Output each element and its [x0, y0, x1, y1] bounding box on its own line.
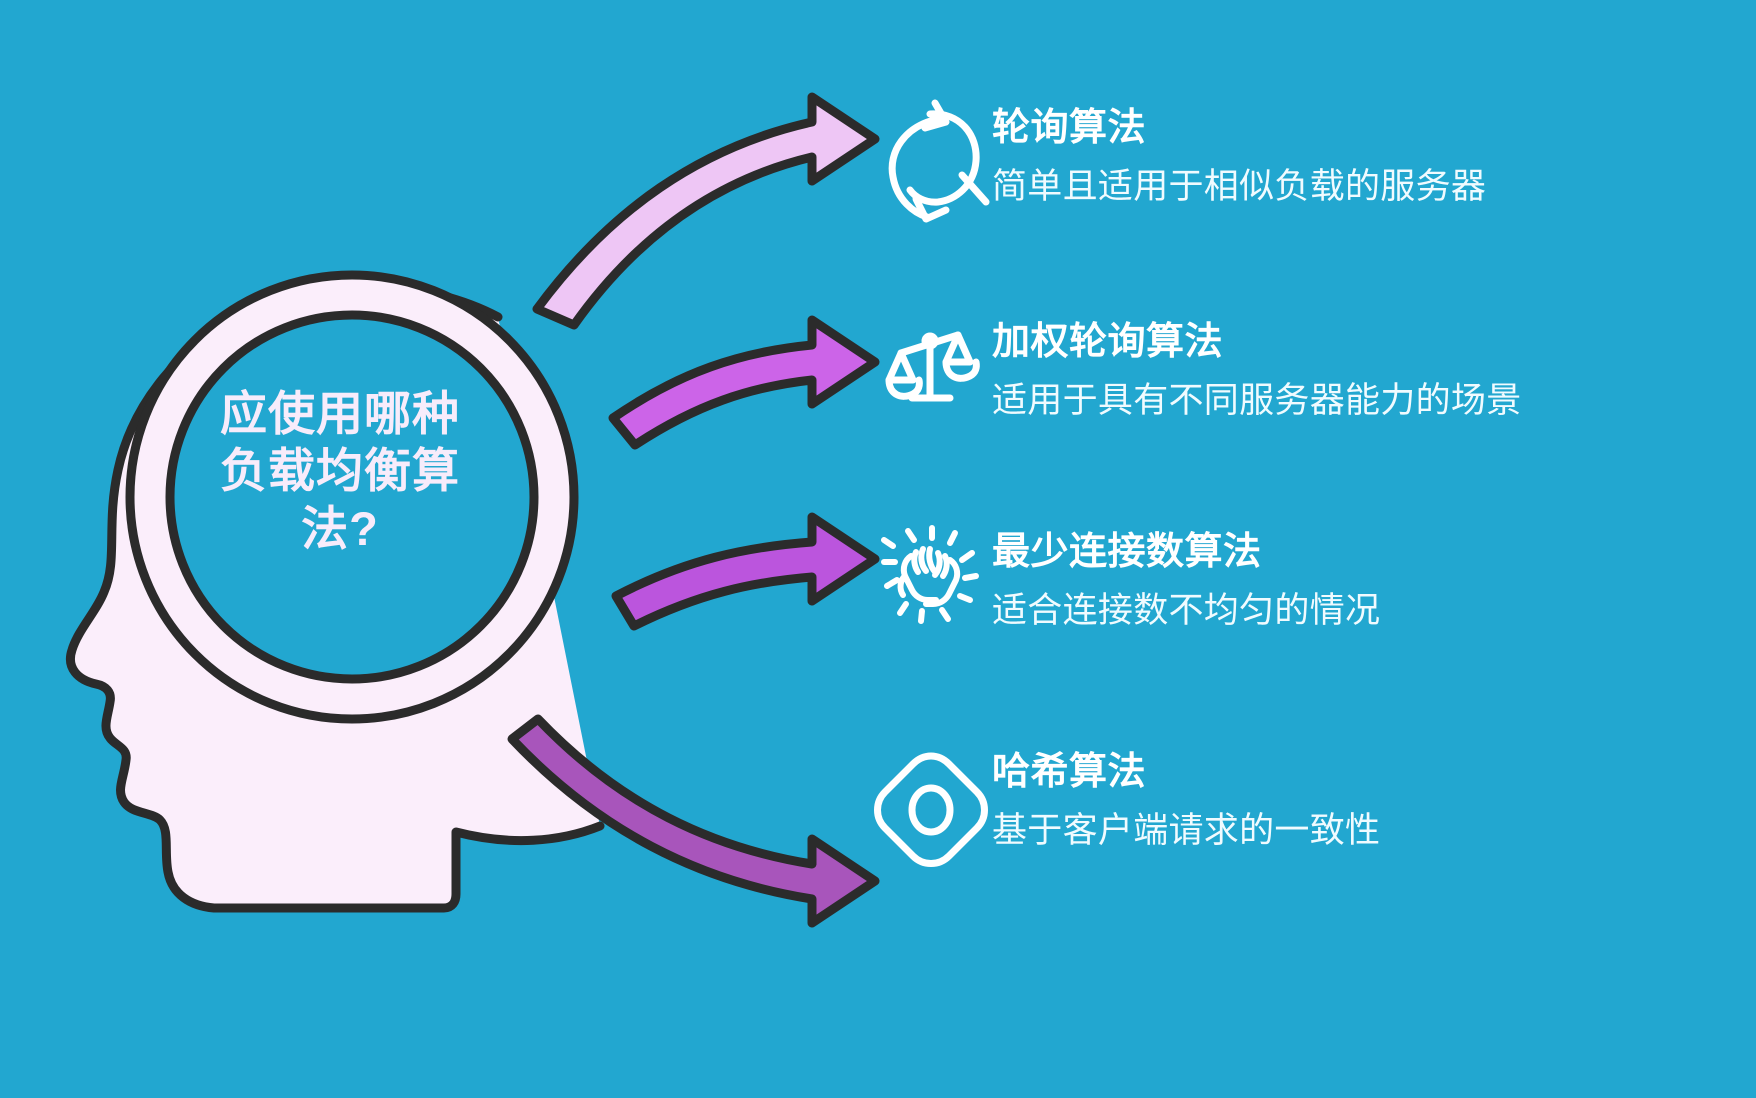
list-item[interactable]: 轮询算法 简单且适用于相似负载的服务器: [880, 108, 1756, 210]
list-item-body: 加权轮询算法 适用于具有不同服务器能力的场景: [976, 322, 1756, 424]
arrow-to-least-connections: [616, 517, 875, 626]
list-item-title: 最少连接数算法: [992, 532, 1756, 574]
list-item-title: 哈希算法: [992, 752, 1756, 794]
infographic-canvas: 应使用哪种 负载均衡算 法? 轮询算法 简单且适用于相似负载的服务器 加权轮询算…: [0, 0, 1756, 1098]
list-item-description: 适合连接数不均匀的情况: [992, 588, 1632, 635]
arrow-to-round-robin: [537, 97, 875, 325]
head-silhouette-icon: [70, 275, 600, 908]
algorithm-list: 轮询算法 简单且适用于相似负载的服务器 加权轮询算法 适用于具有不同服务器能力的…: [880, 0, 1756, 1098]
list-item-body: 轮询算法 简单且适用于相似负载的服务器: [976, 108, 1756, 210]
weighted-round-robin-icon-slot: [880, 324, 976, 400]
list-item[interactable]: 哈希算法 基于客户端请求的一致性: [880, 752, 1756, 854]
hash-icon-slot: [880, 754, 976, 830]
least-connections-icon-slot: [880, 534, 976, 610]
list-item-body: 哈希算法 基于客户端请求的一致性: [976, 752, 1756, 854]
list-item[interactable]: 加权轮询算法 适用于具有不同服务器能力的场景: [880, 322, 1756, 424]
list-item[interactable]: 最少连接数算法 适合连接数不均匀的情况: [880, 532, 1756, 634]
round-robin-icon-slot: [880, 110, 976, 186]
list-item-description: 基于客户端请求的一致性: [992, 808, 1632, 855]
list-item-title: 轮询算法: [992, 108, 1756, 150]
list-item-description: 适用于具有不同服务器能力的场景: [992, 378, 1632, 425]
list-item-body: 最少连接数算法 适合连接数不均匀的情况: [976, 532, 1756, 634]
list-item-title: 加权轮询算法: [992, 322, 1756, 364]
list-item-description: 简单且适用于相似负载的服务器: [992, 164, 1632, 211]
arrow-to-weighted-round-robin: [613, 320, 875, 445]
